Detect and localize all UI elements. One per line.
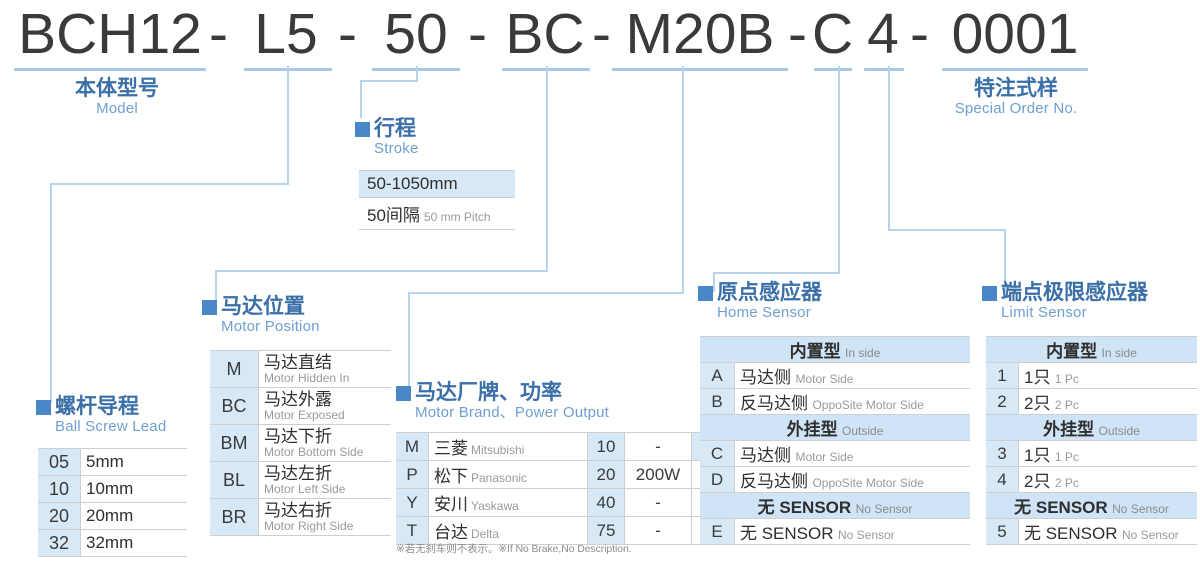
section-home-title-en: Home Sensor: [717, 304, 822, 322]
lead-value: 10mm: [81, 476, 188, 503]
bullet-square-icon: [355, 122, 370, 137]
leader-motorpos-v1: [546, 66, 548, 270]
motor-position-cn: 马达外露: [264, 391, 386, 408]
table-row: BM马达下折Motor Bottom Side: [210, 425, 391, 462]
leader-lead-v1: [287, 66, 289, 183]
section-motor-position: 马达位置 Motor Position: [202, 296, 320, 336]
table-row: B反马达侧 OppoSite Motor Side: [700, 389, 970, 415]
table-limit-sensor-body: 内置型 In side11只 1 Pc22只 2 Pc外挂型 Outside31…: [986, 337, 1197, 545]
home-sensor-value: 马达侧 Motor Side: [735, 363, 971, 389]
motor-brand-cn: 安川: [434, 495, 468, 514]
table-row: 2020mm: [38, 503, 187, 530]
section-model-title-en: Model: [56, 100, 178, 118]
home-sensor-code: C: [700, 441, 735, 467]
section-model-title-cn: 本体型号: [56, 78, 178, 100]
section-lead-heading: 螺杆导程: [36, 396, 166, 418]
leader-brand-v2: [408, 292, 410, 388]
section-motorpos-heading: 马达位置: [202, 296, 320, 318]
stroke-pitch-cn: 50间隔: [367, 206, 420, 225]
motor-brand-code: M: [396, 433, 429, 461]
motor-position-value: 马达直结Motor Hidden In: [259, 351, 392, 388]
pn-segment-model: BCH12: [14, 4, 206, 64]
table-group-row: 外挂型 Outside: [986, 415, 1197, 441]
motor-power-value: -: [625, 489, 692, 517]
leader-stroke-v1: [416, 66, 418, 80]
section-motorpos-title-cn: 马达位置: [221, 295, 305, 318]
motor-brand-en: Delta: [471, 527, 499, 541]
leader-lead-h: [50, 183, 289, 185]
table-ball-screw-lead: 055mm1010mm2020mm3232mm: [38, 448, 187, 557]
limit-sensor-group-en: No Sensor: [1112, 502, 1169, 516]
table-group-row: 无 SENSOR No Sensor: [986, 493, 1197, 519]
motor-position-cn: 马达下折: [264, 428, 386, 445]
section-motor-brand: 马达厂牌、功率 Motor Brand、Power Output: [396, 382, 609, 422]
home-sensor-code: D: [700, 467, 735, 493]
motor-position-en: Motor Left Side: [264, 483, 386, 495]
pn-separator-2: -: [338, 4, 357, 64]
lead-value: 32mm: [81, 530, 188, 557]
motor-brand-cn: 松下: [434, 467, 468, 486]
limit-sensor-code: 2: [986, 389, 1019, 415]
table-row: 22只 2 Pc: [986, 389, 1197, 415]
section-brand-title-cn: 马达厂牌、功率: [415, 381, 562, 404]
motor-position-code: M: [210, 351, 259, 388]
section-motorpos-title-en: Motor Position: [221, 318, 320, 336]
table-home-sensor: 内置型 In sideA马达侧 Motor SideB反马达侧 OppoSite…: [700, 336, 970, 545]
limit-sensor-value: 无 SENSOR No Sensor: [1019, 519, 1198, 545]
leader-home-h: [713, 272, 840, 274]
table-ball-screw-lead-body: 055mm1010mm2020mm3232mm: [38, 449, 187, 557]
limit-sensor-cn: 2只: [1024, 394, 1050, 413]
pn-segment-lead: L5: [240, 4, 332, 64]
table-group-row: 内置型 In side: [700, 337, 970, 363]
bullet-square-icon: [36, 400, 51, 415]
table-row: A马达侧 Motor Side: [700, 363, 970, 389]
home-sensor-group-cn: 内置型: [790, 342, 841, 361]
motor-power-code: 40: [588, 489, 625, 517]
lead-code: 05: [38, 449, 81, 476]
limit-sensor-group-header: 外挂型 Outside: [986, 415, 1197, 441]
motor-position-code: BC: [210, 388, 259, 425]
section-stroke: 行程 Stroke: [355, 118, 419, 158]
motor-brand-cn: 台达: [434, 523, 468, 542]
motor-position-code: BL: [210, 462, 259, 499]
pn-underline-limit-sensor: [864, 68, 904, 71]
table-group-row: 内置型 In side: [986, 337, 1197, 363]
table-row: 31只 1 Pc: [986, 441, 1197, 467]
motor-power-value: -: [625, 517, 692, 545]
table-limit-sensor: 内置型 In side11只 1 Pc22只 2 Pc外挂型 Outside31…: [986, 336, 1197, 545]
pn-segment-motor-brand: M20B: [612, 4, 788, 64]
motor-brand-cn: 三菱: [434, 439, 468, 458]
section-limit-title-cn: 端点极限感应器: [1001, 281, 1148, 304]
motor-position-en: Motor Right Side: [264, 520, 386, 532]
pn-separator-4: -: [592, 4, 611, 64]
lead-code: 20: [38, 503, 81, 530]
home-sensor-en: Motor Side: [795, 450, 853, 464]
home-sensor-cn: 反马达侧: [740, 394, 808, 413]
motor-brand-en: Yaskawa: [471, 499, 519, 513]
table-row: E无 SENSOR No Sensor: [700, 519, 970, 545]
pn-underline-model: [14, 68, 206, 71]
motor-position-cn: 马达直结: [264, 354, 386, 371]
lead-code: 10: [38, 476, 81, 503]
limit-sensor-group-en: In side: [1102, 346, 1137, 360]
lead-value: 20mm: [81, 503, 188, 530]
limit-sensor-cn: 2只: [1024, 472, 1050, 491]
home-sensor-value: 反马达侧 OppoSite Motor Side: [735, 389, 971, 415]
stroke-range-row: 50-1050mm: [359, 170, 515, 198]
motor-brand-en: Panasonic: [471, 471, 527, 485]
stroke-pitch-en: 50 mm Pitch: [424, 210, 491, 224]
table-row: 11只 1 Pc: [986, 363, 1197, 389]
section-home-sensor: 原点感应器 Home Sensor: [698, 282, 822, 322]
motor-position-value: 马达外露Motor Exposed: [259, 388, 392, 425]
motor-position-value: 马达右折Motor Right Side: [259, 499, 392, 536]
section-special-order-title-en: Special Order No.: [938, 100, 1094, 118]
leader-lead-v2: [50, 183, 52, 403]
limit-sensor-group-cn: 无 SENSOR: [1014, 498, 1108, 517]
leader-motorpos-h: [215, 270, 548, 272]
table-row: D反马达侧 OppoSite Motor Side: [700, 467, 970, 493]
table-row: 3232mm: [38, 530, 187, 557]
home-sensor-code: E: [700, 519, 735, 545]
section-special-order: 特注式样 Special Order No.: [938, 78, 1094, 118]
limit-sensor-en: 2 Pc: [1055, 398, 1079, 412]
pn-underline-special-order: [942, 68, 1088, 71]
home-sensor-cn: 无 SENSOR: [740, 524, 834, 543]
home-sensor-en: OppoSite Motor Side: [812, 476, 923, 490]
section-ball-screw-lead: 螺杆导程 Ball Screw Lead: [36, 396, 166, 436]
home-sensor-group-en: No Sensor: [856, 502, 913, 516]
table-row: BR马达右折Motor Right Side: [210, 499, 391, 536]
section-stroke-title-en: Stroke: [374, 140, 419, 158]
table-row: M马达直结Motor Hidden In: [210, 351, 391, 388]
table-row: 5无 SENSOR No Sensor: [986, 519, 1197, 545]
limit-sensor-group-header: 无 SENSOR No Sensor: [986, 493, 1197, 519]
section-limit-heading: 端点极限感应器: [982, 282, 1148, 304]
motor-position-cn: 马达右折: [264, 502, 386, 519]
pn-segment-stroke: 50: [372, 4, 460, 64]
motor-position-value: 马达下折Motor Bottom Side: [259, 425, 392, 462]
pn-segment-motor-position: BC: [500, 4, 590, 64]
limit-sensor-value: 2只 2 Pc: [1019, 467, 1198, 493]
table-row: C马达侧 Motor Side: [700, 441, 970, 467]
pn-segment-home-sensor: C: [812, 4, 852, 64]
section-brand-heading: 马达厂牌、功率: [396, 382, 609, 404]
motor-position-en: Motor Hidden In: [264, 372, 386, 384]
table-row: 42只 2 Pc: [986, 467, 1197, 493]
motor-position-en: Motor Exposed: [264, 409, 386, 421]
section-model: 本体型号 Model: [56, 78, 178, 118]
home-sensor-value: 无 SENSOR No Sensor: [735, 519, 971, 545]
pn-separator-3: -: [468, 4, 487, 64]
home-sensor-cn: 马达侧: [740, 446, 791, 465]
table-motor-brand-body: M三菱Mitsubishi10-BP松下Panasonic20200WY安川Ya…: [396, 433, 730, 545]
limit-sensor-value: 2只 2 Pc: [1019, 389, 1198, 415]
section-home-heading: 原点感应器: [698, 282, 822, 304]
home-sensor-en: OppoSite Motor Side: [812, 398, 923, 412]
motor-brand-name: 安川Yaskawa: [429, 489, 588, 517]
limit-sensor-en: 1 Pc: [1055, 372, 1079, 386]
limit-sensor-value: 1只 1 Pc: [1019, 363, 1198, 389]
home-sensor-group-header: 无 SENSOR No Sensor: [700, 493, 970, 519]
leader-brand-h: [408, 292, 684, 294]
section-stroke-heading: 行程: [355, 118, 419, 140]
home-sensor-code: B: [700, 389, 735, 415]
table-row: BC马达外露Motor Exposed: [210, 388, 391, 425]
limit-sensor-code: 1: [986, 363, 1019, 389]
home-sensor-value: 反马达侧 OppoSite Motor Side: [735, 467, 971, 493]
motor-brand-code: P: [396, 461, 429, 489]
table-row: BL马达左折Motor Left Side: [210, 462, 391, 499]
limit-sensor-cn: 无 SENSOR: [1024, 524, 1118, 543]
leader-limit-v1: [888, 66, 890, 229]
motor-position-en: Motor Bottom Side: [264, 446, 386, 458]
limit-sensor-value: 1只 1 Pc: [1019, 441, 1198, 467]
home-sensor-cn: 反马达侧: [740, 472, 808, 491]
home-sensor-group-cn: 外挂型: [787, 420, 838, 439]
table-motor-brand: M三菱Mitsubishi10-BP松下Panasonic20200WY安川Ya…: [396, 432, 730, 545]
limit-sensor-code: 5: [986, 519, 1019, 545]
table-row: M三菱Mitsubishi10-B: [396, 433, 730, 461]
home-sensor-group-en: In side: [845, 346, 880, 360]
leader-limit-h: [888, 229, 1006, 231]
motor-brand-code: Y: [396, 489, 429, 517]
stroke-pitch-row: 50间隔50 mm Pitch: [359, 198, 515, 230]
pn-separator-6: -: [910, 4, 929, 64]
leader-brand-v1: [682, 66, 684, 292]
section-limit-sensor: 端点极限感应器 Limit Sensor: [982, 282, 1148, 322]
home-sensor-group-cn: 无 SENSOR: [758, 498, 852, 517]
table-group-row: 外挂型 Outside: [700, 415, 970, 441]
motor-position-code: BM: [210, 425, 259, 462]
motor-brand-footnote: ※若无刹车则不表示。※If No Brake,No Description.: [396, 541, 632, 556]
home-sensor-group-en: Outside: [842, 424, 883, 438]
limit-sensor-code: 4: [986, 467, 1019, 493]
table-row: 1010mm: [38, 476, 187, 503]
limit-sensor-group-cn: 外挂型: [1043, 420, 1094, 439]
motor-brand-name: 松下Panasonic: [429, 461, 588, 489]
pn-underline-home-sensor: [814, 68, 852, 71]
limit-sensor-en: No Sensor: [1122, 528, 1179, 542]
limit-sensor-en: 1 Pc: [1055, 450, 1079, 464]
limit-sensor-code: 3: [986, 441, 1019, 467]
bullet-square-icon: [982, 286, 997, 301]
section-special-order-title-cn: 特注式样: [938, 78, 1094, 100]
table-home-sensor-body: 内置型 In sideA马达侧 Motor SideB反马达侧 OppoSite…: [700, 337, 970, 545]
section-home-title-cn: 原点感应器: [717, 281, 822, 304]
motor-power-code: 10: [588, 433, 625, 461]
leader-stroke-v2: [360, 80, 362, 118]
part-number-configurator-diagram: BCH12 - L5 - 50 - BC - M20B - C 4 - 0001: [0, 0, 1200, 575]
section-lead-title-en: Ball Screw Lead: [55, 418, 166, 436]
section-limit-title-en: Limit Sensor: [1001, 304, 1148, 322]
table-group-row: 无 SENSOR No Sensor: [700, 493, 970, 519]
pn-underline-motor-brand: [612, 68, 788, 71]
limit-sensor-cn: 1只: [1024, 446, 1050, 465]
table-row: P松下Panasonic20200W: [396, 461, 730, 489]
pn-segment-limit-sensor: 4: [862, 4, 904, 64]
bullet-square-icon: [698, 286, 713, 301]
part-number-header: BCH12 - L5 - 50 - BC - M20B - C 4 - 0001: [0, 4, 1200, 66]
limit-sensor-cn: 1只: [1024, 368, 1050, 387]
section-stroke-title-cn: 行程: [374, 117, 416, 140]
home-sensor-cn: 马达侧: [740, 368, 791, 387]
motor-brand-name: 三菱Mitsubishi: [429, 433, 588, 461]
bullet-square-icon: [396, 386, 411, 401]
home-sensor-value: 马达侧 Motor Side: [735, 441, 971, 467]
motor-position-cn: 马达左折: [264, 465, 386, 482]
home-sensor-code: A: [700, 363, 735, 389]
home-sensor-group-header: 内置型 In side: [700, 337, 970, 363]
limit-sensor-group-en: Outside: [1099, 424, 1140, 438]
motor-position-code: BR: [210, 499, 259, 536]
pn-separator-5: -: [788, 4, 807, 64]
limit-sensor-group-cn: 内置型: [1046, 342, 1097, 361]
leader-home-v1: [838, 66, 840, 272]
pn-separator-1: -: [209, 4, 228, 64]
table-row: 055mm: [38, 449, 187, 476]
motor-power-value: -: [625, 433, 692, 461]
motor-power-value: 200W: [625, 461, 692, 489]
home-sensor-en: No Sensor: [838, 528, 895, 542]
pn-segment-special-order: 0001: [942, 4, 1088, 64]
home-sensor-group-header: 外挂型 Outside: [700, 415, 970, 441]
motor-position-value: 马达左折Motor Left Side: [259, 462, 392, 499]
lead-code: 32: [38, 530, 81, 557]
home-sensor-en: Motor Side: [795, 372, 853, 386]
lead-value: 5mm: [81, 449, 188, 476]
motor-power-code: 20: [588, 461, 625, 489]
bullet-square-icon: [202, 300, 217, 315]
limit-sensor-en: 2 Pc: [1055, 476, 1079, 490]
motor-brand-en: Mitsubishi: [471, 443, 524, 457]
leader-stroke-h: [360, 80, 418, 82]
table-row: Y安川Yaskawa40-: [396, 489, 730, 517]
table-motor-position-body: M马达直结Motor Hidden InBC马达外露Motor ExposedB…: [210, 351, 391, 536]
section-lead-title-cn: 螺杆导程: [55, 395, 139, 418]
table-motor-position: M马达直结Motor Hidden InBC马达外露Motor ExposedB…: [210, 350, 391, 536]
limit-sensor-group-header: 内置型 In side: [986, 337, 1197, 363]
section-brand-title-en: Motor Brand、Power Output: [415, 404, 609, 422]
